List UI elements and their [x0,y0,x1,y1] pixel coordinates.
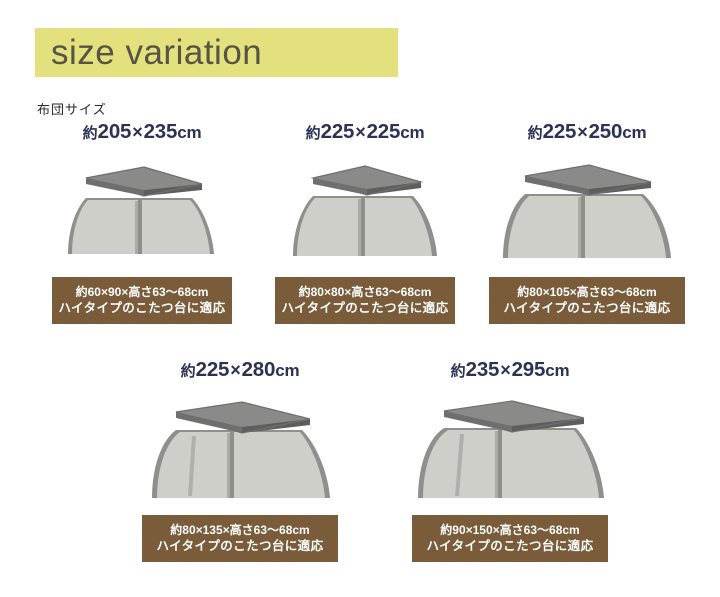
table-spec-text: 約80×105×高さ63〜68cm [489,284,685,300]
size-row-top: 約205×235cm 約60×90×高さ63〜68cm ハイタイプのこたつ台に適… [0,120,720,335]
futon-width: 235 [466,358,500,381]
multiply-icon: × [229,360,241,380]
fit-note-text: ハイタイプのこたつ台に適応 [142,538,338,554]
unit-label: cm [545,361,569,380]
size-variation-card[interactable]: 約235×295cm 約90×150×高さ63〜68cm ハイタイプのこた [400,358,620,573]
unit-label: cm [177,123,201,142]
futon-height: 295 [512,358,546,381]
approx-prefix: 約 [306,125,321,142]
table-spec-text: 約80×80×高さ63〜68cm [275,284,455,300]
futon-width: 225 [321,120,355,143]
spec-box: 約90×150×高さ63〜68cm ハイタイプのこたつ台に適応 [412,515,608,562]
futon-width: 225 [543,120,577,143]
approx-prefix: 約 [83,125,98,142]
size-variation-card[interactable]: 約205×235cm 約60×90×高さ63〜68cm ハイタイプのこたつ台に適… [32,120,252,335]
futon-height: 280 [242,358,276,381]
approx-prefix: 約 [181,363,196,380]
futon-size-heading: 約225×250cm [477,120,697,144]
table-spec-text: 約80×135×高さ63〜68cm [142,522,338,538]
fit-note-text: ハイタイプのこたつ台に適応 [275,300,455,316]
fit-note-text: ハイタイプのこたつ台に適応 [412,538,608,554]
size-variation-card[interactable]: 約225×225cm 約80×80×高さ63〜68cm ハイタイプのこたつ台に適… [255,120,475,335]
table-spec-text: 約90×150×高さ63〜68cm [412,522,608,538]
spec-box: 約80×105×高さ63〜68cm ハイタイプのこたつ台に適応 [489,277,685,324]
size-variation-card[interactable]: 約225×280cm 約80×135×高さ63〜68cm ハイタイプのこた [130,358,350,573]
multiply-icon: × [499,360,511,380]
futon-height: 250 [589,120,623,143]
unit-label: cm [400,123,424,142]
futon-size-label: 布団サイズ [37,99,107,118]
approx-prefix: 約 [528,125,543,142]
table-spec-text: 約60×90×高さ63〜68cm [52,284,232,300]
size-variation-card[interactable]: 約225×250cm 約80×105×高さ63〜68cm ハイタイプのこたつ台に… [477,120,697,335]
unit-label: cm [275,361,299,380]
futon-size-heading: 約225×225cm [255,120,475,144]
spec-box: 約80×80×高さ63〜68cm ハイタイプのこたつ台に適応 [275,277,455,324]
futon-height: 225 [367,120,401,143]
spec-box: 約80×135×高さ63〜68cm ハイタイプのこたつ台に適応 [142,515,338,562]
multiply-icon: × [131,122,143,142]
futon-height: 235 [144,120,178,143]
multiply-icon: × [576,122,588,142]
unit-label: cm [622,123,646,142]
size-row-bottom: 約225×280cm 約80×135×高さ63〜68cm ハイタイプのこた [0,358,720,573]
kotatsu-illustration [477,154,697,272]
futon-size-heading: 約205×235cm [32,120,252,144]
page-title: size variation [51,31,262,75]
futon-size-heading: 約235×295cm [400,358,620,382]
approx-prefix: 約 [451,363,466,380]
futon-width: 225 [196,358,230,381]
fit-note-text: ハイタイプのこたつ台に適応 [52,300,232,316]
futon-size-heading: 約225×280cm [130,358,350,382]
fit-note-text: ハイタイプのこたつ台に適応 [489,300,685,316]
kotatsu-illustration [32,154,252,272]
kotatsu-illustration [400,392,620,510]
kotatsu-illustration [255,154,475,272]
futon-width: 205 [98,120,132,143]
multiply-icon: × [354,122,366,142]
spec-box: 約60×90×高さ63〜68cm ハイタイプのこたつ台に適応 [52,277,232,324]
kotatsu-illustration [130,392,350,510]
